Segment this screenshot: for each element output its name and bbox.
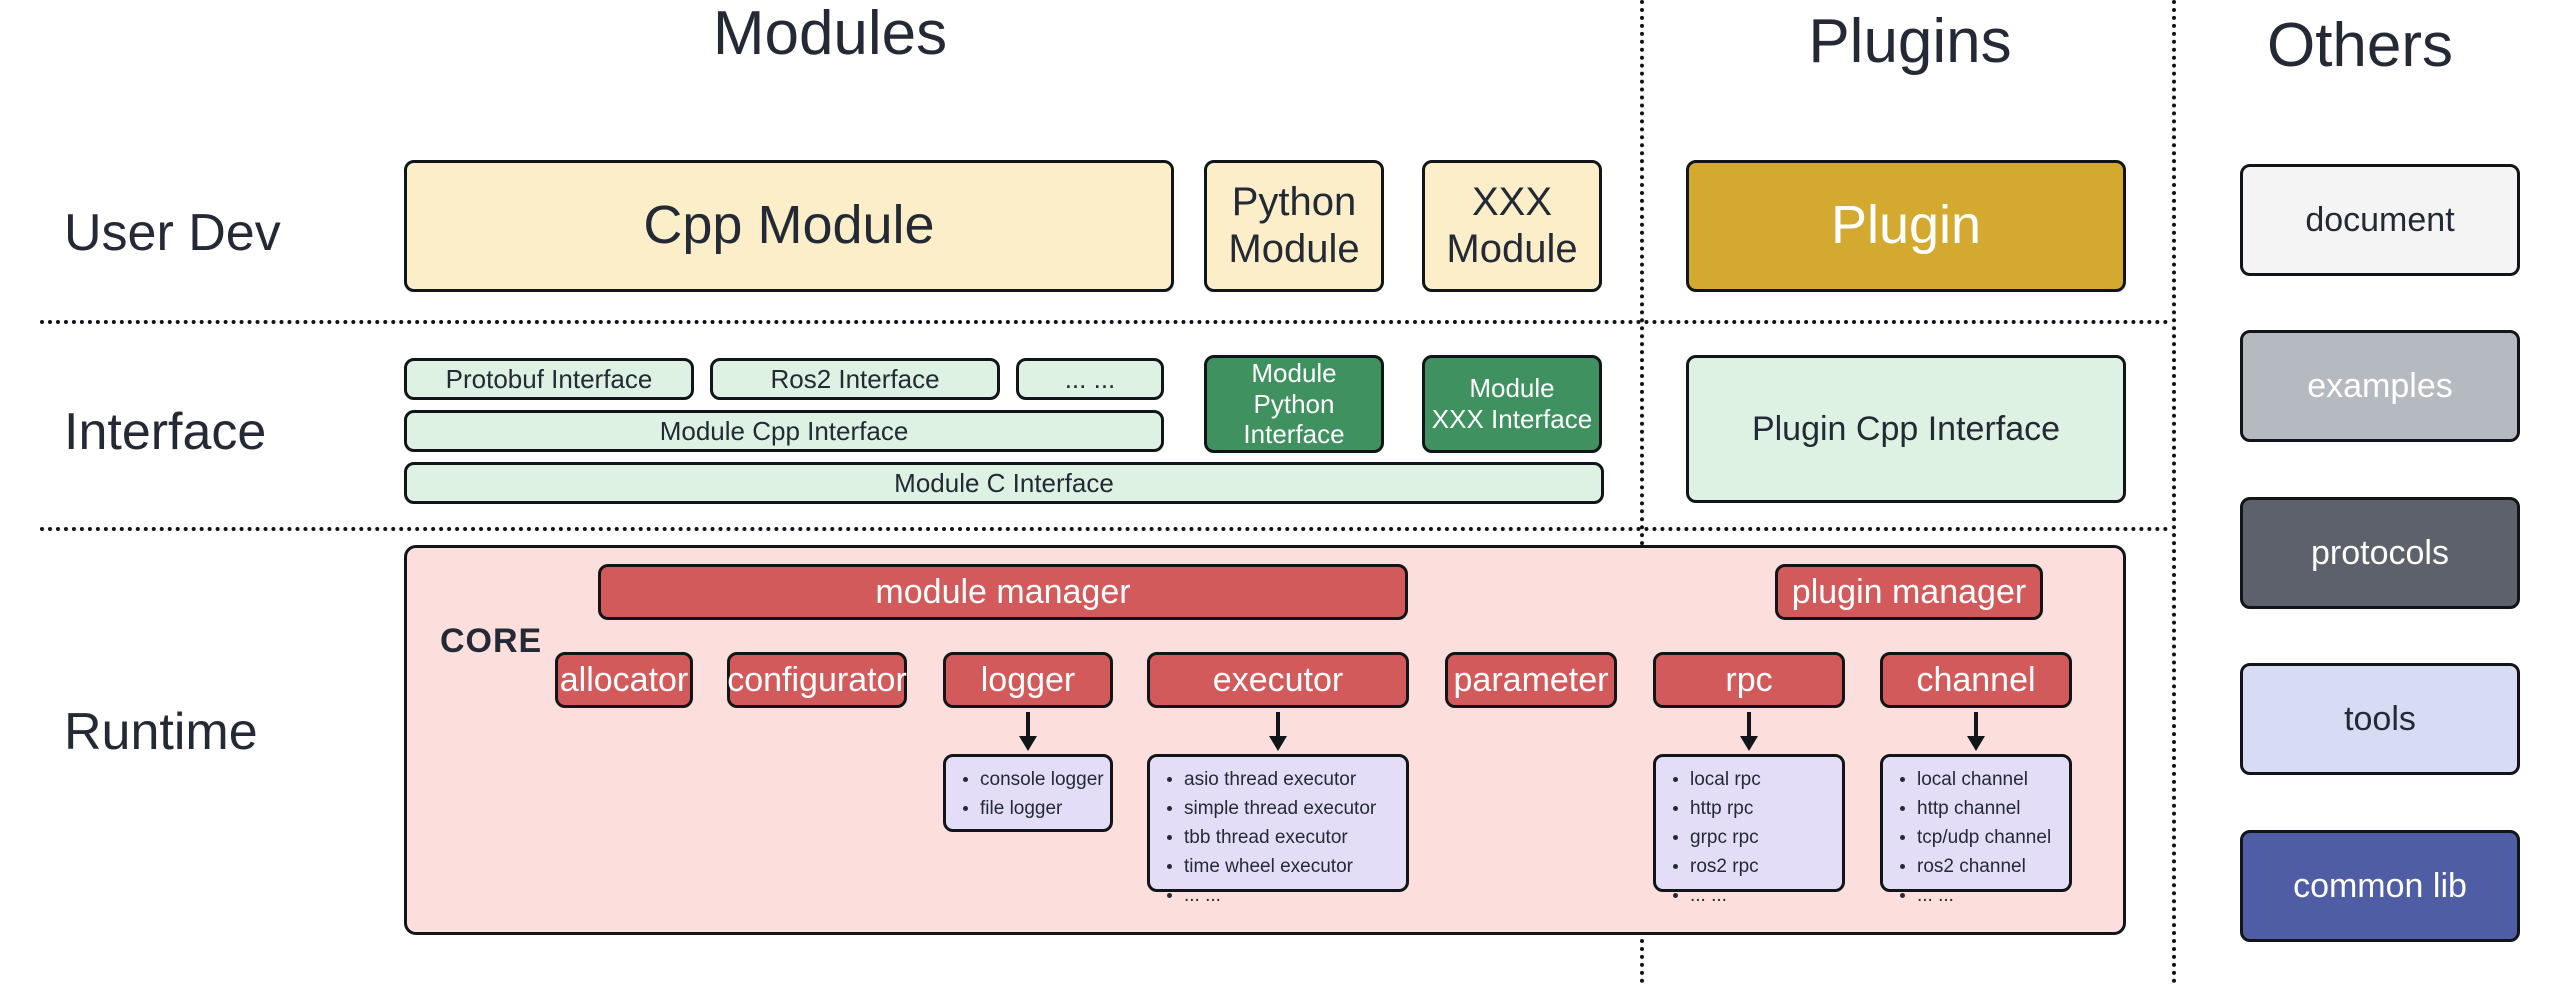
executor-details-list[interactable]: asio thread executorsimple thread execut… <box>1147 754 1409 892</box>
others-item-protocols[interactable]: protocols <box>2240 497 2520 609</box>
core-component-parameter[interactable]: parameter <box>1445 652 1617 708</box>
architecture-diagram: Modules Plugins Others User Dev Interfac… <box>0 0 2560 984</box>
list-item: simple thread executor <box>1184 795 1396 824</box>
list-item: grpc rpc <box>1690 824 1832 853</box>
xxx-module-box[interactable]: XXX Module <box>1422 160 1602 292</box>
list-item: ... ... <box>1690 882 1832 911</box>
core-component-logger[interactable]: logger <box>943 652 1113 708</box>
list-item: asio thread executor <box>1184 766 1396 795</box>
module-c-interface-box[interactable]: Module C Interface <box>404 462 1604 504</box>
list-item: local rpc <box>1690 766 1832 795</box>
row-label-runtime: Runtime <box>64 702 258 762</box>
others-item-tools[interactable]: tools <box>2240 663 2520 775</box>
module-cpp-interface-box[interactable]: Module Cpp Interface <box>404 410 1164 452</box>
module-xxx-interface-box[interactable]: Module XXX Interface <box>1422 355 1602 453</box>
list-item: console logger <box>980 766 1100 795</box>
row-separator-interface-runtime <box>40 527 2170 531</box>
list-item: tcp/udp channel <box>1917 824 2059 853</box>
plugin-box[interactable]: Plugin <box>1686 160 2126 292</box>
core-label: CORE <box>440 622 542 661</box>
more-interface-box[interactable]: ... ... <box>1016 358 1164 400</box>
list-item: http rpc <box>1690 795 1832 824</box>
rpc-details-list[interactable]: local rpchttp rpcgrpc rpcros2 rpc... ... <box>1653 754 1845 892</box>
column-separator-plugins-others <box>2172 0 2176 984</box>
list-item: ros2 channel <box>1917 853 2059 882</box>
arrow-logger-to-details <box>1011 712 1045 752</box>
core-component-rpc[interactable]: rpc <box>1653 652 1845 708</box>
cpp-module-box[interactable]: Cpp Module <box>404 160 1174 292</box>
core-component-channel[interactable]: channel <box>1880 652 2072 708</box>
list-item: ... ... <box>1184 882 1396 911</box>
ros2-interface-box[interactable]: Ros2 Interface <box>710 358 1000 400</box>
rpc-details-items: local rpchttp rpcgrpc rpcros2 rpc... ... <box>1668 766 1832 910</box>
list-item: ... ... <box>1917 882 2059 911</box>
plugin-manager-box[interactable]: plugin manager <box>1775 564 2043 620</box>
arrow-rpc-to-details <box>1732 712 1766 752</box>
list-item: time wheel executor <box>1184 853 1396 882</box>
list-item: file logger <box>980 795 1100 824</box>
logger-details-items: console loggerfile logger <box>958 766 1100 824</box>
list-item: ros2 rpc <box>1690 853 1832 882</box>
arrow-channel-to-details <box>1959 712 1993 752</box>
channel-details-items: local channelhttp channeltcp/udp channel… <box>1895 766 2059 910</box>
row-label-interface: Interface <box>64 402 266 462</box>
column-title-others: Others <box>2190 10 2530 81</box>
list-item: local channel <box>1917 766 2059 795</box>
logger-details-list[interactable]: console loggerfile logger <box>943 754 1113 832</box>
protobuf-interface-box[interactable]: Protobuf Interface <box>404 358 694 400</box>
others-item-common-lib[interactable]: common lib <box>2240 830 2520 942</box>
column-title-modules: Modules <box>410 0 1250 69</box>
list-item: http channel <box>1917 795 2059 824</box>
executor-details-items: asio thread executorsimple thread execut… <box>1162 766 1396 910</box>
plugin-cpp-interface-box[interactable]: Plugin Cpp Interface <box>1686 355 2126 503</box>
channel-details-list[interactable]: local channelhttp channeltcp/udp channel… <box>1880 754 2072 892</box>
module-python-interface-box[interactable]: Module Python Interface <box>1204 355 1384 453</box>
arrow-executor-to-details <box>1261 712 1295 752</box>
row-separator-userdev-interface <box>40 320 2170 324</box>
core-component-configurator[interactable]: configurator <box>727 652 907 708</box>
list-item: tbb thread executor <box>1184 824 1396 853</box>
row-label-user-dev: User Dev <box>64 203 281 263</box>
core-component-allocator[interactable]: allocator <box>555 652 693 708</box>
module-manager-box[interactable]: module manager <box>598 564 1408 620</box>
others-item-examples[interactable]: examples <box>2240 330 2520 442</box>
python-module-box[interactable]: Python Module <box>1204 160 1384 292</box>
column-title-plugins: Plugins <box>1660 6 2160 77</box>
core-component-executor[interactable]: executor <box>1147 652 1409 708</box>
others-item-document[interactable]: document <box>2240 164 2520 276</box>
